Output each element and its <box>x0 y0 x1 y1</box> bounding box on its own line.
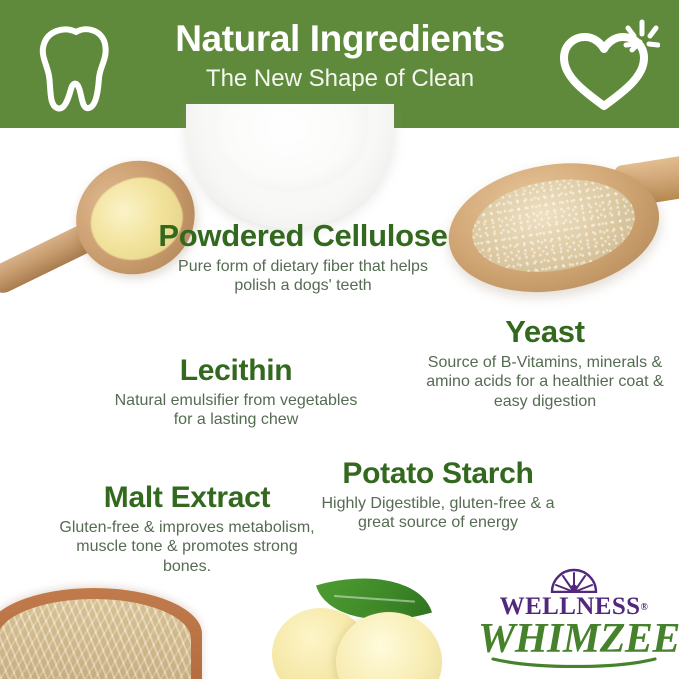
ingredient-description: Source of B-Vitamins, minerals & amino a… <box>418 353 672 412</box>
sunburst-arch-emblem-icon <box>549 566 599 593</box>
ingredient-yeast: Yeast Source of B-Vitamins, minerals & a… <box>418 316 672 411</box>
ingredient-description: Gluten-free & improves metabolism, muscl… <box>56 518 318 577</box>
infographic-canvas: Natural Ingredients The New Shape of Cle… <box>0 0 679 679</box>
ingredient-malt-extract: Malt Extract Gluten-free & improves meta… <box>56 482 318 576</box>
brand-logo: WELLNESS® WHIMZEES® <box>478 566 670 668</box>
ingredient-name: Yeast <box>418 316 672 349</box>
barley-grains <box>0 599 191 679</box>
ingredient-description: Highly Digestible, gluten-free & a great… <box>304 494 572 533</box>
registered-mark: ® <box>640 602 648 613</box>
ingredient-name: Malt Extract <box>56 482 318 514</box>
ingredient-name: Powdered Cellulose <box>158 220 448 253</box>
ingredient-potato-starch: Potato Starch Highly Digestible, gluten-… <box>304 458 572 533</box>
tooth-icon <box>34 22 118 114</box>
ingredient-name: Lecithin <box>112 355 360 387</box>
brand-whimzees-wordmark: WHIMZEES® <box>478 618 670 661</box>
heart-sparkle-icon <box>552 14 660 114</box>
header-text-group: Natural Ingredients The New Shape of Cle… <box>110 18 570 94</box>
ingredient-description: Pure form of dietary fiber that helps po… <box>158 257 448 296</box>
ingredient-description: Natural emulsifier from vegetables for a… <box>112 391 360 430</box>
page-title: Natural Ingredients <box>110 18 570 59</box>
photo-yeast <box>436 133 679 320</box>
page-subtitle: The New Shape of Clean <box>110 65 570 94</box>
photo-malt-extract <box>0 588 202 679</box>
ingredient-lecithin: Lecithin Natural emulsifier from vegetab… <box>112 355 360 430</box>
photo-potato-starch <box>288 570 488 679</box>
ingredient-name: Potato Starch <box>304 458 572 490</box>
photo-powdered-cellulose <box>186 104 394 228</box>
brand-whimzees-text: WHIMZEES <box>478 616 679 662</box>
ingredient-powdered-cellulose: Powdered Cellulose Pure form of dietary … <box>158 220 448 296</box>
